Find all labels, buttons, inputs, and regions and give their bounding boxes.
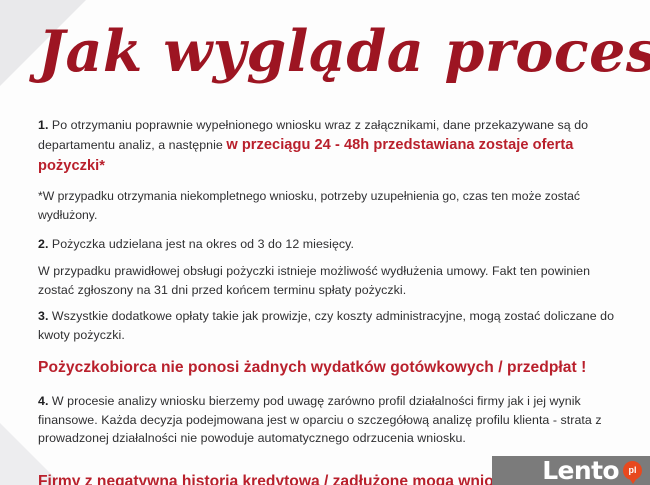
content-body: 1. Po otrzymaniu poprawnie wypełnionego … (38, 116, 616, 485)
list-item-2: 2. Pożyczka udzielana jest na okres od 3… (38, 235, 616, 254)
highlight-banner-no-upfront-costs: Pożyczkobiorca nie ponosi żadnych wydatk… (38, 357, 616, 380)
list-item-1-number: 1. (38, 118, 48, 132)
list-item-2-note: W przypadku prawidłowej obsługi pożyczki… (38, 262, 616, 300)
list-item-2-number: 2. (38, 237, 48, 251)
list-item-1: 1. Po otrzymaniu poprawnie wypełnionego … (38, 116, 616, 178)
lento-watermark: Lento pl (492, 456, 650, 485)
list-item-4-number: 4. (38, 394, 48, 408)
list-item-3: 3. Wszystkie dodatkowe opłaty takie jak … (38, 307, 616, 345)
map-pin-icon: pl (623, 461, 642, 480)
footnote-incomplete-application: *W przypadku otrzymania niekompletnego w… (38, 187, 616, 225)
watermark-tld-text: pl (629, 466, 637, 475)
list-item-3-number: 3. (38, 309, 48, 323)
watermark-brand-text: Lento (542, 458, 619, 483)
page-title: Jak wygląda proces? (38, 22, 650, 82)
list-item-4-text: W procesie analizy wniosku bierzemy pod … (38, 394, 602, 446)
list-item-3-text: Wszystkie dodatkowe opłaty takie jak pro… (38, 309, 614, 342)
list-item-2-text: Pożyczka udzielana jest na okres od 3 do… (48, 237, 354, 251)
poster-canvas: Jak wygląda proces? 1. Po otrzymaniu pop… (0, 0, 650, 485)
list-item-4: 4. W procesie analizy wniosku bierzemy p… (38, 392, 616, 449)
